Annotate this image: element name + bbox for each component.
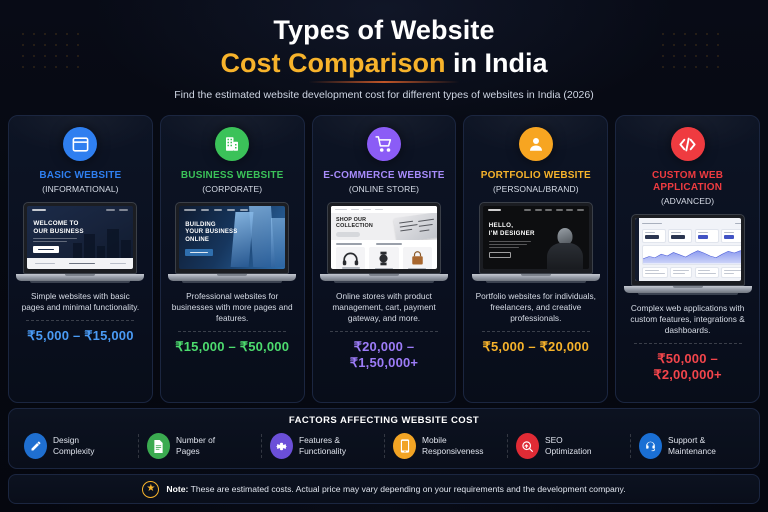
- laptop-mockup-dashboard: [624, 214, 752, 295]
- laptop-base: [472, 274, 600, 281]
- card-title: E-COMMERCE WEBSITE: [323, 170, 444, 182]
- card-ecommerce-website[interactable]: E-COMMERCE WEBSITE (ONLINE STORE): [312, 115, 457, 403]
- mock-hero-line-3: ONLINE: [185, 237, 285, 244]
- factor-label-line-1: SEO: [545, 435, 592, 446]
- card-description: Online stores with product management, c…: [320, 291, 449, 324]
- card-subtitle: (CORPORATE): [202, 184, 262, 194]
- factor-label-line-1: Design: [53, 435, 94, 446]
- shopping-cart-icon: [367, 127, 401, 161]
- page-header: Types of Website Cost Comparison in Indi…: [0, 0, 768, 101]
- mock-product-headphones: [336, 247, 365, 270]
- mock-logo: [488, 209, 501, 211]
- card-divider: [26, 320, 134, 321]
- factor-label: Mobile Responsiveness: [422, 435, 483, 457]
- laptop-base: [168, 274, 296, 281]
- factor-label-line-2: Functionality: [299, 446, 346, 457]
- website-type-cards: BASIC WEBSITE (INFORMATIONAL): [8, 115, 760, 403]
- laptop-screen: BUILDING YOUR BUSINESS ONLINE: [175, 202, 289, 274]
- card-custom-web-application[interactable]: CUSTOM WEB APPLICATION (ADVANCED): [615, 115, 760, 403]
- mockup-ecommerce-website: SHOP OUR COLLECTION: [331, 206, 437, 269]
- card-description: Complex web applications with custom fea…: [623, 303, 752, 336]
- factor-support-maintenance[interactable]: Support & Maintenance: [630, 433, 753, 459]
- mock-keyboard-image: [393, 213, 437, 240]
- mock-city-illustration: [71, 222, 133, 262]
- infographic-page: Types of Website Cost Comparison in Indi…: [0, 0, 768, 512]
- factor-label: Number of Pages: [176, 435, 215, 457]
- mock-product-grid: [331, 246, 437, 270]
- laptop-base: [624, 286, 752, 293]
- mock-bottom-cards: [642, 267, 741, 278]
- card-basic-website[interactable]: BASIC WEBSITE (INFORMATIONAL): [8, 115, 153, 403]
- office-building-icon: [215, 127, 249, 161]
- mock-product-handbag: [403, 247, 432, 270]
- page-title-accent: Cost Comparison: [220, 48, 445, 78]
- mock-product-label: [375, 268, 393, 269]
- factor-mobile-responsiveness[interactable]: Mobile Responsiveness: [384, 433, 507, 459]
- mockup-basic-website: WELCOME TO OUR BUSINESS: [27, 206, 133, 269]
- laptop-foot: [182, 281, 282, 283]
- factor-label-line-2: Pages: [176, 446, 215, 457]
- laptop-screen: WELCOME TO OUR BUSINESS: [23, 202, 137, 274]
- page-title-line-2: Cost Comparison in India: [0, 46, 768, 80]
- laptop-mockup-portfolio: HELLO, I'M DESIGNER: [472, 202, 600, 283]
- mock-bottom-card: [670, 267, 692, 278]
- factor-label-line-1: Mobile: [422, 435, 483, 446]
- mock-dashboard-main: [639, 218, 741, 281]
- factor-label: Features & Functionality: [299, 435, 346, 457]
- factor-label: Support & Maintenance: [668, 435, 716, 457]
- laptop-screen: [631, 214, 745, 286]
- factors-list: Design Complexity Number of Pages: [9, 433, 759, 459]
- card-subtitle: (ADVANCED): [661, 196, 714, 206]
- mock-navbar: [483, 206, 589, 214]
- mock-stat-card: [695, 229, 719, 243]
- mock-product-watch: [369, 247, 398, 270]
- factor-label-line-2: Optimization: [545, 446, 592, 457]
- card-price: ₹20,000 – ₹1,50,000+: [320, 339, 449, 371]
- mockup-portfolio-website: HELLO, I'M DESIGNER: [483, 206, 589, 269]
- document-icon: [147, 433, 170, 459]
- browser-window-icon: [63, 127, 97, 161]
- note-body: These are estimated costs. Actual price …: [188, 484, 625, 494]
- note-label: Note:: [166, 484, 188, 494]
- user-person-icon: [519, 127, 553, 161]
- card-price: ₹5,000 – ₹20,000: [483, 339, 590, 355]
- card-price: ₹15,000 – ₹50,000: [175, 339, 289, 355]
- mock-footer: [27, 258, 133, 269]
- pen-icon: [24, 433, 47, 459]
- laptop-foot: [638, 293, 738, 295]
- note-bar: ★ Note: These are estimated costs. Actua…: [8, 474, 760, 504]
- mock-product-label: [342, 267, 360, 268]
- factor-number-of-pages[interactable]: Number of Pages: [138, 433, 261, 459]
- factor-label: SEO Optimization: [545, 435, 592, 457]
- mock-person-body: [547, 243, 583, 269]
- factor-features-functionality[interactable]: Features & Functionality: [261, 433, 384, 459]
- mock-cta-button: [33, 246, 59, 253]
- factor-label-line-1: Number of: [176, 435, 215, 446]
- laptop-base: [320, 274, 448, 281]
- mock-cta-button: [489, 252, 511, 259]
- factor-label-line-1: Support &: [668, 435, 716, 446]
- card-description: Simple websites with basic pages and min…: [16, 291, 145, 313]
- mockup-business-website: BUILDING YOUR BUSINESS ONLINE: [179, 206, 285, 269]
- card-description: Professional websites for businesses wit…: [168, 291, 297, 324]
- factors-panel: FACTORS AFFECTING WEBSITE COST Design Co…: [8, 408, 760, 469]
- laptop-foot: [334, 281, 434, 283]
- factor-label: Design Complexity: [53, 435, 94, 457]
- mock-hero: WELCOME TO OUR BUSINESS: [27, 214, 133, 262]
- factor-label-line-2: Complexity: [53, 446, 94, 457]
- card-portfolio-website[interactable]: PORTFOLIO WEBSITE (PERSONAL/BRAND): [463, 115, 608, 403]
- laptop-foot: [30, 281, 130, 283]
- page-title-rest: in India: [446, 48, 548, 78]
- mock-navlinks: [106, 209, 128, 211]
- laptop-mockup-business: BUILDING YOUR BUSINESS ONLINE: [168, 202, 296, 283]
- factors-title: FACTORS AFFECTING WEBSITE COST: [9, 415, 759, 426]
- title-underline: [309, 81, 459, 83]
- laptop-mockup-ecommerce: SHOP OUR COLLECTION: [320, 202, 448, 283]
- factor-label-line-1: Features &: [299, 435, 346, 446]
- mock-stat-cards: [642, 229, 741, 243]
- mock-cta-button: [336, 232, 360, 237]
- card-title: PORTFOLIO WEBSITE: [481, 170, 591, 182]
- mock-person-photo: [545, 222, 585, 269]
- mock-area-chart: [642, 245, 741, 265]
- mock-bottom-card: [721, 267, 741, 278]
- laptop-mockup-basic: WELCOME TO OUR BUSINESS: [16, 202, 144, 283]
- star-badge-icon: ★: [142, 481, 159, 498]
- card-subtitle: (ONLINE STORE): [349, 184, 419, 194]
- card-subtitle: (PERSONAL/BRAND): [493, 184, 579, 194]
- page-subtitle: Find the estimated website development c…: [0, 89, 768, 101]
- mock-topbar: [331, 206, 437, 213]
- card-title: CUSTOM WEB APPLICATION: [623, 170, 752, 194]
- card-title: BUSINESS WEBSITE: [181, 170, 284, 182]
- page-title-line-1: Types of Website: [0, 14, 768, 46]
- mock-hero: SHOP OUR COLLECTION: [331, 213, 437, 240]
- seo-search-icon: [516, 433, 539, 459]
- gear-icon: [270, 433, 293, 459]
- card-title: BASIC WEBSITE: [39, 170, 121, 182]
- mock-stat-card: [642, 229, 666, 243]
- card-divider: [482, 331, 590, 332]
- mock-hero: HELLO, I'M DESIGNER: [483, 214, 589, 269]
- laptop-screen: HELLO, I'M DESIGNER: [479, 202, 593, 274]
- mock-hero: BUILDING YOUR BUSINESS ONLINE: [179, 214, 285, 266]
- headset-icon: [639, 433, 662, 459]
- card-business-website[interactable]: BUSINESS WEBSITE (CORPORATE): [160, 115, 305, 403]
- factor-label-line-2: Responsiveness: [422, 446, 483, 457]
- mock-product-label: [408, 268, 426, 269]
- card-price: ₹5,000 – ₹15,000: [27, 328, 134, 344]
- mockup-dashboard-app: [635, 218, 741, 281]
- card-divider: [178, 331, 286, 332]
- mock-hero-line-2: YOUR BUSINESS: [185, 229, 285, 236]
- factor-label-line-2: Maintenance: [668, 446, 716, 457]
- mock-cta-button: [185, 249, 213, 256]
- mock-navbar: [27, 206, 133, 214]
- mock-logo: [32, 209, 46, 211]
- mock-hero-line-1: BUILDING: [185, 222, 285, 229]
- laptop-foot: [486, 281, 586, 283]
- card-divider: [330, 331, 438, 332]
- mock-bottom-card: [695, 267, 719, 278]
- laptop-screen: SHOP OUR COLLECTION: [327, 202, 441, 274]
- factor-seo-optimization[interactable]: SEO Optimization: [507, 433, 630, 459]
- card-description: Portfolio websites for individuals, free…: [471, 291, 600, 324]
- factor-design-complexity[interactable]: Design Complexity: [15, 433, 138, 459]
- note-text: Note: These are estimated costs. Actual …: [166, 484, 625, 494]
- mock-stat-card: [668, 229, 692, 243]
- mobile-icon: [393, 433, 416, 459]
- mock-bottom-card: [642, 267, 668, 278]
- mock-navlinks: [524, 209, 584, 210]
- code-brackets-icon: [671, 127, 705, 161]
- mock-dashboard-topbar: [642, 221, 741, 226]
- card-subtitle: (INFORMATIONAL): [42, 184, 118, 194]
- mock-stat-card: [721, 229, 741, 243]
- card-price: ₹50,000 – ₹2,00,000+: [623, 351, 752, 383]
- card-divider: [634, 343, 742, 344]
- laptop-base: [16, 274, 144, 281]
